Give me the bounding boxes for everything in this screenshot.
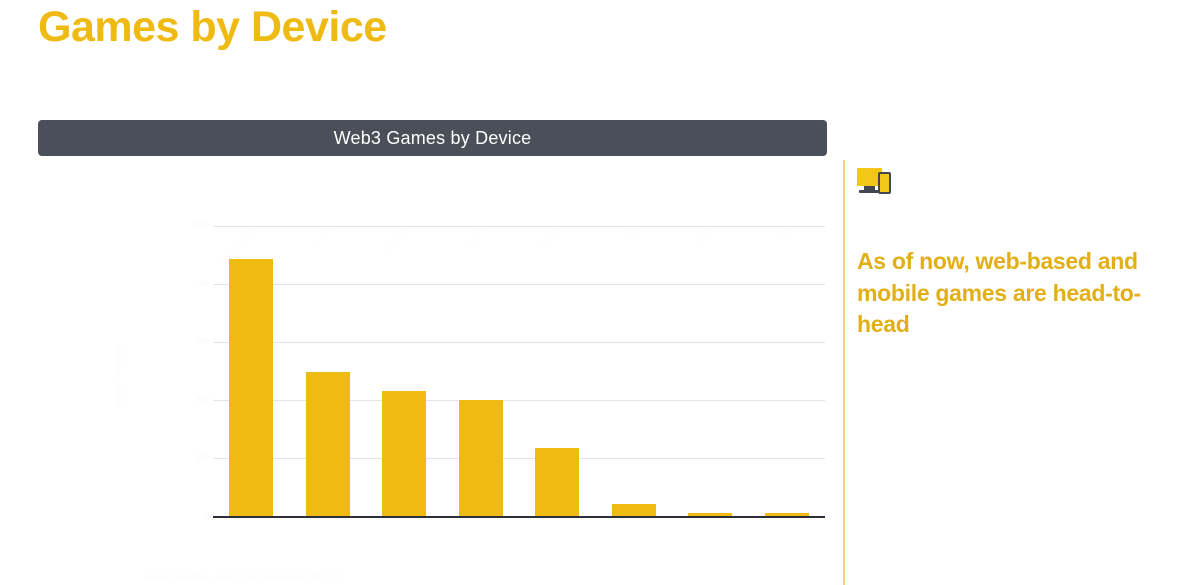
plot-area: 026052078010401300 Web BrowserMobileWind… [213,226,825,518]
bar[interactable] [229,259,273,516]
bar[interactable] [459,400,503,516]
mobile-device-shape [878,172,891,194]
y-tick-label: 260 [197,455,209,462]
monitor-base-shape [859,190,880,193]
x-axis-line [213,516,825,518]
y-tick-label: 1040 [193,281,209,288]
y-tick-label: 1300 [193,223,209,230]
callout-text: As of now, web-based and mobile games ar… [857,246,1157,341]
chart-header-bar: Web3 Games by Device [38,120,827,156]
y-tick-label: 780 [197,339,209,346]
device-monitor-icon [857,168,891,198]
chart-title: Web3 Games by Device [334,128,532,149]
bar[interactable] [306,372,350,516]
bar[interactable] [382,391,426,516]
y-tick-label: 520 [197,397,209,404]
bar[interactable] [612,504,656,516]
page-title: Games by Device [38,2,387,54]
bar[interactable] [535,448,579,516]
vertical-divider [843,160,845,585]
chart-card: Web3 Games by Device Number of Games 026… [38,120,827,576]
y-axis-title: Number of Games [116,296,123,456]
y-tick-label: 0 [205,513,209,520]
source-note: Source: DappRadar, State of the Dapp Ind… [145,574,341,581]
chart-plot-wrapper: Number of Games 026052078010401300 Web B… [38,156,827,576]
callout-panel: As of now, web-based and mobile games ar… [857,168,1157,341]
